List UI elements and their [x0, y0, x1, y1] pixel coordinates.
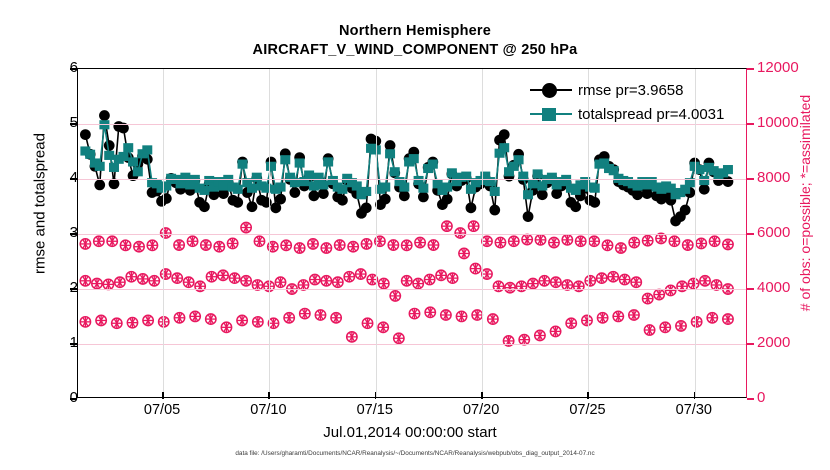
- y-tick-label-right: 8000: [757, 169, 827, 186]
- x-tick-label: 07/25: [552, 402, 622, 418]
- y-tick-mark-left: [70, 233, 77, 235]
- y-tick-mark-right: [747, 288, 754, 290]
- y-tick-mark-left: [70, 288, 77, 290]
- y-axis-label-left: rmse and totalspread: [32, 54, 49, 354]
- legend-marker-rmse: [528, 80, 574, 100]
- x-tick-mark: [587, 392, 589, 399]
- y-tick-mark-left: [70, 398, 77, 400]
- x-tick-mark: [694, 392, 696, 399]
- legend-label-totalspread: totalspread pr=4.0031: [578, 106, 724, 123]
- y-tick-mark-right: [747, 123, 754, 125]
- y-tick-mark-right: [747, 68, 754, 70]
- x-tick-label: 07/20: [446, 402, 516, 418]
- y-tick-label-right: 2000: [757, 334, 827, 351]
- y-tick-label-right: 4000: [757, 279, 827, 296]
- y-tick-mark-right: [747, 178, 754, 180]
- legend-label-rmse: rmse pr=3.9658: [578, 82, 683, 99]
- axis-ticks-layer: 012345602000400060008000100001200007/050…: [0, 0, 830, 470]
- y-axis-label-right: # of obs: o=possible; *=assimilated: [797, 53, 813, 353]
- x-tick-mark: [162, 392, 164, 399]
- legend-item-totalspread: totalspread pr=4.0031: [528, 102, 746, 126]
- filled-circle-icon: [542, 83, 557, 98]
- y-tick-mark-left: [70, 123, 77, 125]
- y-tick-mark-right: [747, 398, 754, 400]
- y-tick-label-right: 0: [757, 389, 827, 406]
- filled-square-icon: [542, 108, 556, 121]
- y-tick-mark-left: [70, 68, 77, 70]
- legend-item-rmse: rmse pr=3.9658: [528, 78, 746, 102]
- x-tick-label: 07/10: [233, 402, 303, 418]
- x-tick-mark: [268, 392, 270, 399]
- x-tick-mark: [481, 392, 483, 399]
- y-tick-label-right: 10000: [757, 114, 827, 131]
- x-tick-mark: [375, 392, 377, 399]
- x-tick-label: 07/30: [659, 402, 729, 418]
- data-file-caption: data file: /Users/gharamti/Documents/NCA…: [0, 450, 830, 457]
- y-tick-mark-right: [747, 233, 754, 235]
- x-tick-label: 07/05: [127, 402, 197, 418]
- chart-legend: rmse pr=3.9658 totalspread pr=4.0031: [528, 78, 746, 126]
- legend-marker-totalspread: [528, 104, 574, 124]
- y-tick-mark-left: [70, 343, 77, 345]
- y-tick-mark-right: [747, 343, 754, 345]
- x-axis-label: Jul.01,2014 00:00:00 start: [0, 424, 820, 441]
- x-tick-label: 07/15: [340, 402, 410, 418]
- y-tick-mark-left: [70, 178, 77, 180]
- y-tick-label-right: 6000: [757, 224, 827, 241]
- y-tick-label-right: 12000: [757, 59, 827, 76]
- figure-canvas: Northern Hemisphere AIRCRAFT_V_WIND_COMP…: [0, 0, 830, 470]
